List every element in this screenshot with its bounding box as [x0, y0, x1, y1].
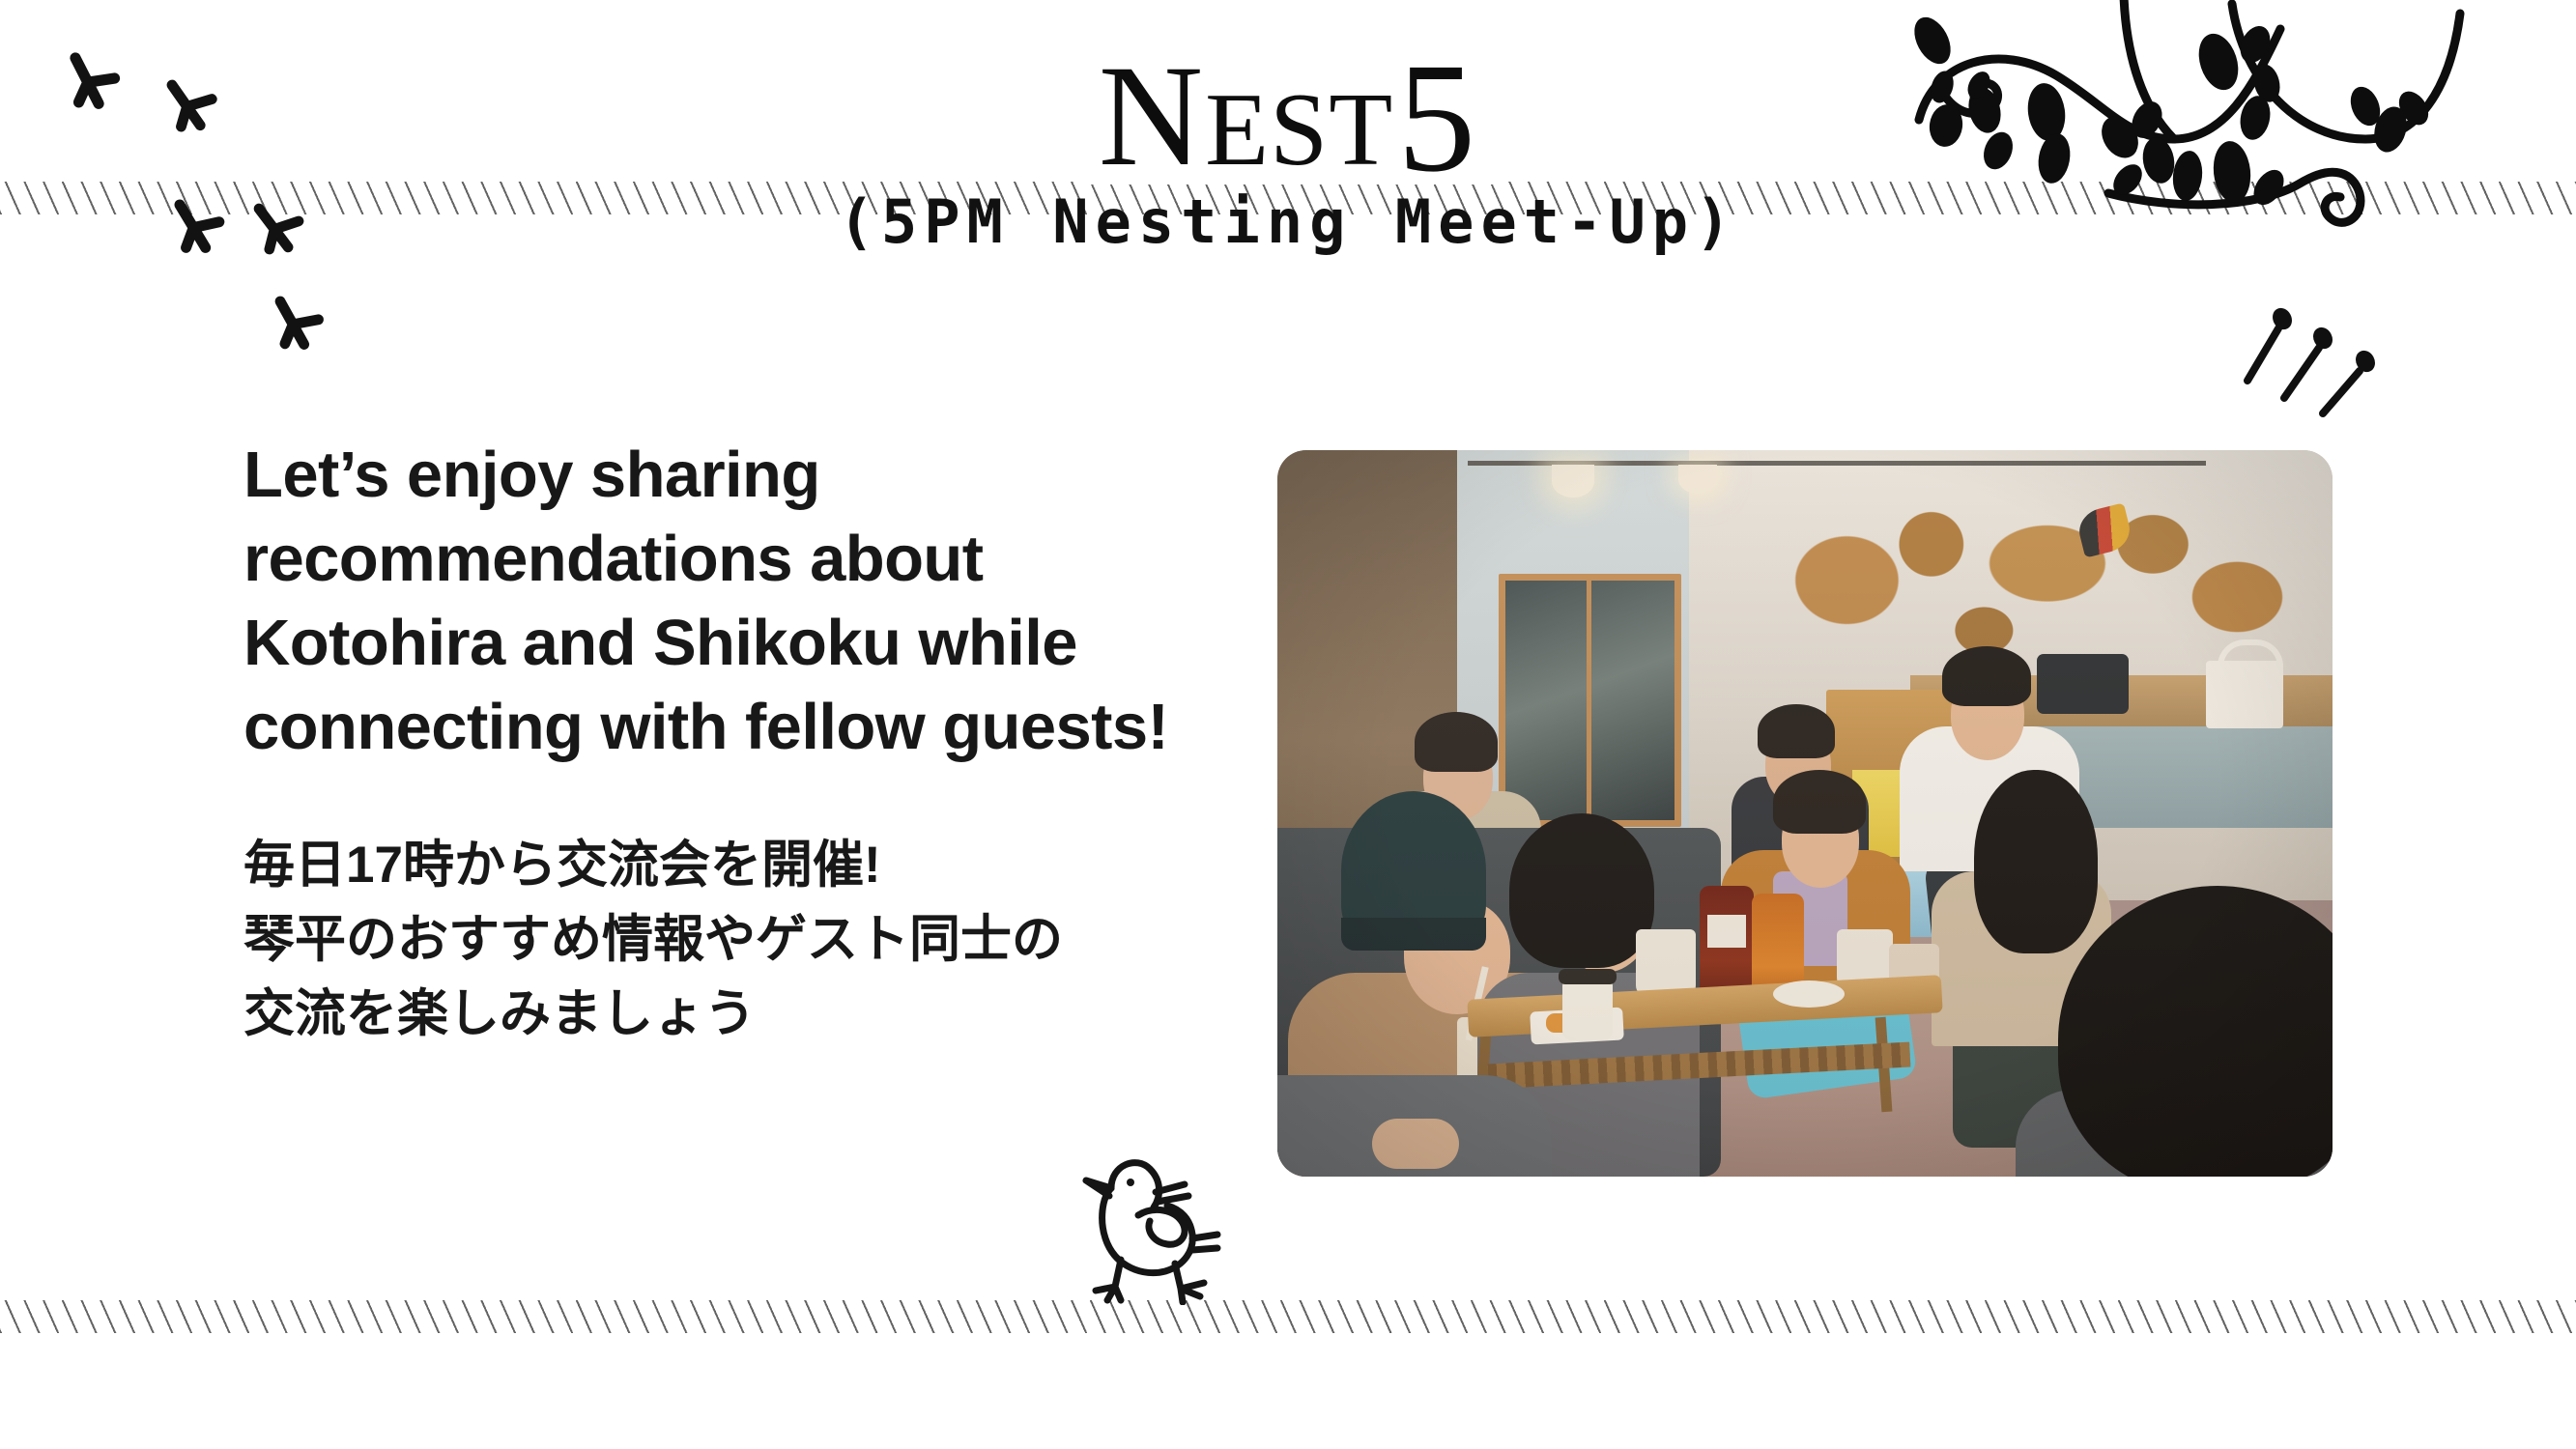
photo-person-bob-hair — [1509, 813, 1654, 968]
photo-canvas — [1277, 450, 2333, 1177]
japanese-copy-line-2: 琴平のおすすめ情報やゲスト同士の — [243, 903, 1219, 978]
wordmark-number: 5 — [1397, 32, 1477, 205]
sparkle-strokes — [2230, 305, 2414, 431]
photo-white-tote — [2206, 661, 2283, 728]
japanese-copy-line-1: 毎日17時から交流会を開催! — [243, 829, 1219, 903]
photo-person-white-sweater-hair — [1942, 646, 2031, 706]
floral-vine-ornament — [1884, 0, 2483, 236]
photo-paper-cup-center — [1636, 929, 1696, 997]
photo-pendant-lamp-2 — [1678, 465, 1717, 494]
photo-black-bag — [2037, 654, 2129, 714]
divider-hatch-bottom — [0, 1300, 2576, 1333]
photo-person-beanie-hat — [1341, 791, 1486, 951]
wordmark-nest5: NEST5 — [1073, 41, 1503, 185]
wordmark-rest: EST — [1205, 72, 1393, 187]
japanese-copy: 毎日17時から交流会を開催! 琴平のおすすめ情報やゲスト同士の 交流を楽しみまし… — [243, 829, 1219, 1052]
photo-coffee-cup-lidded — [1562, 980, 1613, 1040]
photo-saucer — [1773, 980, 1845, 1008]
japanese-copy-line-3: 交流を楽しみましょう — [243, 978, 1219, 1052]
wordmark-initial: N — [1099, 36, 1205, 196]
copy-column: Let’s enjoy sharing recommendations abou… — [243, 433, 1219, 1052]
photo-window — [1499, 574, 1681, 827]
event-photo — [1277, 450, 2333, 1177]
bird-footprints-group — [0, 0, 599, 425]
photo-pendant-lamp-1 — [1552, 465, 1594, 497]
photo-person-orange-jacket-hair — [1773, 770, 1866, 834]
chick-doodle — [1061, 1146, 1264, 1305]
photo-foreground-hand — [1372, 1119, 1459, 1169]
photo-person-long-hair-hair — [1974, 770, 2098, 953]
english-copy: Let’s enjoy sharing recommendations abou… — [243, 433, 1219, 769]
photo-person-back-left-hair — [1415, 712, 1498, 772]
photo-person-center-back-hair — [1758, 704, 1835, 758]
